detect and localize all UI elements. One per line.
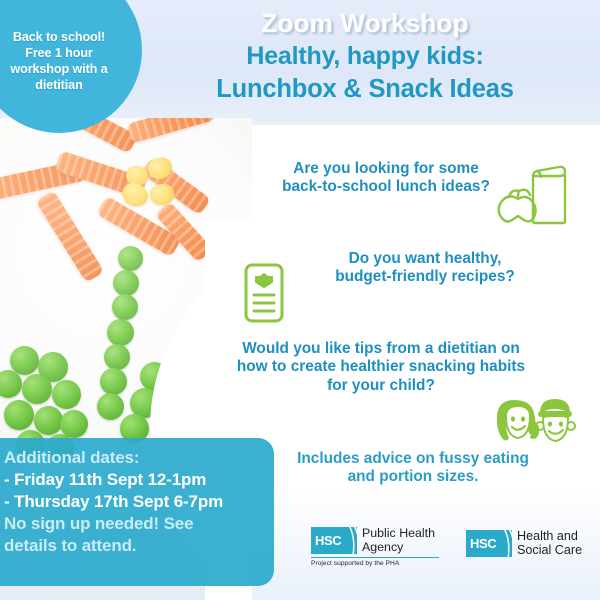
badge-line-4: dietitian <box>0 77 128 93</box>
badge-line-1: Back to school! <box>0 29 128 45</box>
hsc-name-line-1: Health and <box>517 529 582 543</box>
hsc-mark-hsc: HSC <box>466 530 512 557</box>
question-block-1: Are you looking for some back-to-school … <box>246 160 526 197</box>
question-1-line-2: back-to-school lunch ideas? <box>246 178 526 196</box>
hsc-mark-pha: HSC <box>311 527 357 554</box>
question-block-3: Would you like tips from a dietitian on … <box>198 340 564 395</box>
hsc-logo-words: Health and Social Care <box>517 529 582 557</box>
additional-dates-panel: Additional dates: - Friday 11th Sept 12-… <box>0 438 274 586</box>
pha-name-line-1: Public Health <box>362 527 435 541</box>
hsc-swoosh-icon-2 <box>497 530 512 557</box>
dates-date-1: - Friday 11th Sept 12-1pm <box>4 469 260 491</box>
pha-subtitle: Project supported by the PHA <box>311 560 439 567</box>
lunch-bag-apple-icon <box>497 163 571 230</box>
question-2-line-2: budget-friendly recipes? <box>290 268 560 286</box>
dates-note-line-2: details to attend. <box>4 535 260 557</box>
header-title-line-1: Healthy, happy kids: <box>130 41 600 72</box>
hsc-mark-text-2: HSC <box>466 536 496 551</box>
question-2-line-1: Do you want healthy, <box>290 250 560 268</box>
header-title-line-2: Lunchbox & Snack Ideas <box>130 74 600 105</box>
dates-heading: Additional dates: <box>4 447 260 469</box>
poster-canvas: Back to school! Free 1 hour workshop wit… <box>0 0 600 600</box>
two-kids-faces-icon <box>492 396 580 451</box>
recipe-card-icon <box>242 262 286 329</box>
question-1-line-1: Are you looking for some <box>246 160 526 178</box>
hsc-swoosh-icon <box>342 527 357 554</box>
question-3-line-2: how to create healthier snacking habits <box>198 358 564 376</box>
question-3-line-1: Would you like tips from a dietitian on <box>198 340 564 358</box>
dates-date-2: - Thursday 17th Sept 6-7pm <box>4 491 260 513</box>
pha-logo-words: Public Health Agency <box>362 527 435 555</box>
health-and-social-care-logo: HSC Health and Social Care <box>466 529 582 557</box>
question-4-line-2: and portion sizes. <box>268 468 558 486</box>
header-eyebrow: Zoom Workshop <box>130 8 600 39</box>
pha-name-line-2: Agency <box>362 541 435 555</box>
badge-text: Back to school! Free 1 hour workshop wit… <box>0 7 128 93</box>
hsc-mark-text: HSC <box>311 533 341 548</box>
dates-note-line-1: No sign up needed! See <box>4 513 260 535</box>
hsc-name-line-2: Social Care <box>517 543 582 557</box>
poster-header: Zoom Workshop Healthy, happy kids: Lunch… <box>130 8 600 105</box>
badge-line-2: Free 1 hour <box>0 45 128 61</box>
question-block-4: Includes advice on fussy eating and port… <box>268 450 558 487</box>
question-block-2: Do you want healthy, budget-friendly rec… <box>290 250 560 287</box>
pha-divider <box>311 557 439 559</box>
question-4-line-1: Includes advice on fussy eating <box>268 450 558 468</box>
question-3-line-3: for your child? <box>198 377 564 395</box>
public-health-agency-logo: HSC Public Health Agency Project support… <box>311 527 439 567</box>
badge-line-3: workshop with a <box>0 61 128 77</box>
